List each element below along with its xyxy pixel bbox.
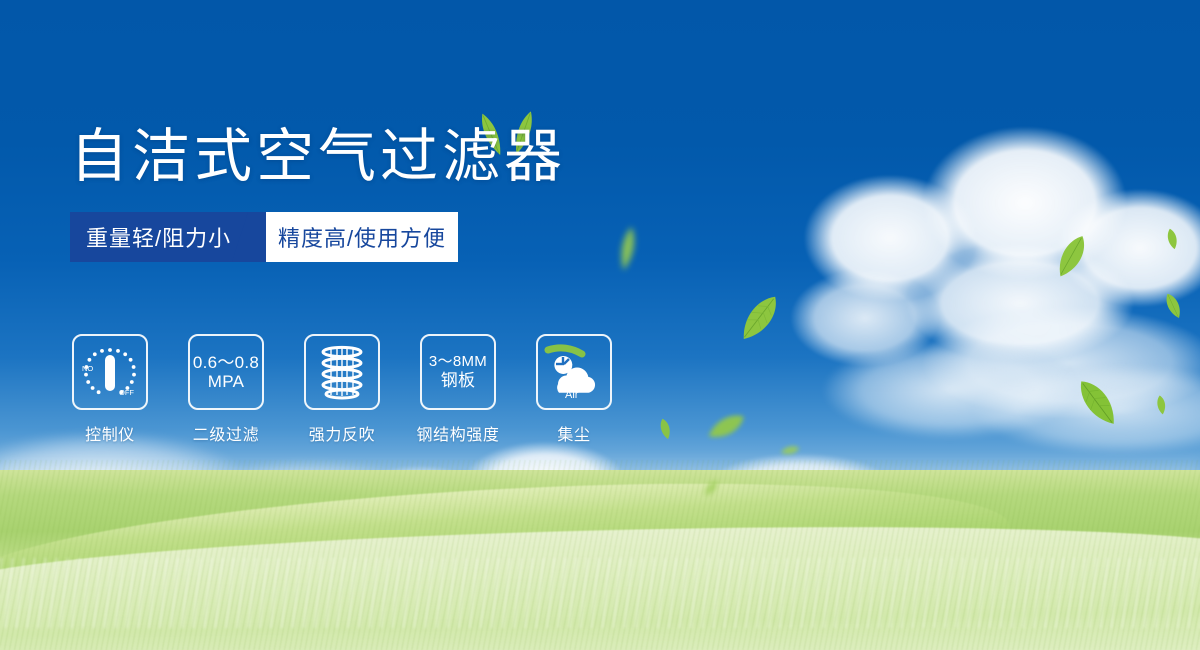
pressure-value: 0.6～0.8 xyxy=(193,353,259,372)
feature-icon-box: 3～8MM 钢板 xyxy=(420,334,496,410)
grass-streaks xyxy=(0,558,1200,628)
feature-item-controller[interactable]: NO OFF 控制仪 xyxy=(72,334,148,445)
headline-block: 自洁式空气过滤器 重量轻/阻力小 精度高/使用方便 xyxy=(70,128,770,262)
feature-label: 集尘 xyxy=(557,421,590,445)
feature-item-dust[interactable]: Air 集尘 xyxy=(536,334,612,445)
leaf-2 xyxy=(725,282,794,352)
feature-label: 钢结构强度 xyxy=(417,421,500,445)
steel-material: 钢板 xyxy=(441,371,476,390)
feature-icon-box xyxy=(304,334,380,410)
feature-label: 控制仪 xyxy=(85,421,135,445)
badge-left-segment: 重量轻/阻力小 xyxy=(70,212,266,262)
feature-icon-box: 0.6～0.8 MPA xyxy=(188,334,264,410)
steel-thickness: 3～8MM xyxy=(429,354,487,371)
badge-right-text: 精度高/使用方便 xyxy=(278,221,446,253)
gauge-label-on: NO xyxy=(82,364,93,373)
leaf-10 xyxy=(1147,393,1176,416)
feature-label: 强力反吹 xyxy=(309,421,375,445)
feature-item-blowback[interactable]: 强力反吹 xyxy=(304,334,380,445)
gauge-label-off: OFF xyxy=(119,388,134,397)
feature-list: NO OFF 控制仪 0.6～0.8 MPA 二级过滤 xyxy=(72,334,612,445)
badge-right-segment: 精度高/使用方便 xyxy=(266,212,458,262)
air-text: Air xyxy=(565,389,579,400)
leaf-6 xyxy=(1043,226,1098,286)
feature-icon-box: NO OFF xyxy=(72,334,148,410)
air-cloud-icon: Air xyxy=(542,344,606,400)
leaf-8 xyxy=(1154,287,1193,325)
cloud-right-large xyxy=(770,118,1200,418)
leaf-blur-3 xyxy=(699,399,754,452)
pressure-unit: MPA xyxy=(208,372,244,391)
feature-item-pressure[interactable]: 0.6～0.8 MPA 二级过滤 xyxy=(188,334,264,445)
leaf-9 xyxy=(1061,366,1133,440)
feature-item-steel[interactable]: 3～8MM 钢板 钢结构强度 xyxy=(420,334,496,445)
product-banner: 自洁式空气过滤器 重量轻/阻力小 精度高/使用方便 xyxy=(0,0,1200,650)
filter-coil-icon xyxy=(314,343,370,401)
feature-label: 二级过滤 xyxy=(193,421,259,445)
badge-left-text: 重量轻/阻力小 xyxy=(86,221,231,253)
leaf-7 xyxy=(1156,225,1188,252)
page-title: 自洁式空气过滤器 xyxy=(70,128,770,186)
leaf-11 xyxy=(646,414,684,444)
gauge-icon: NO OFF xyxy=(79,343,141,401)
feature-badge: 重量轻/阻力小 精度高/使用方便 xyxy=(70,212,458,262)
leaf-blur-4 xyxy=(778,436,803,464)
feature-icon-box: Air xyxy=(536,334,612,410)
cloud-right-lower xyxy=(800,300,1200,480)
